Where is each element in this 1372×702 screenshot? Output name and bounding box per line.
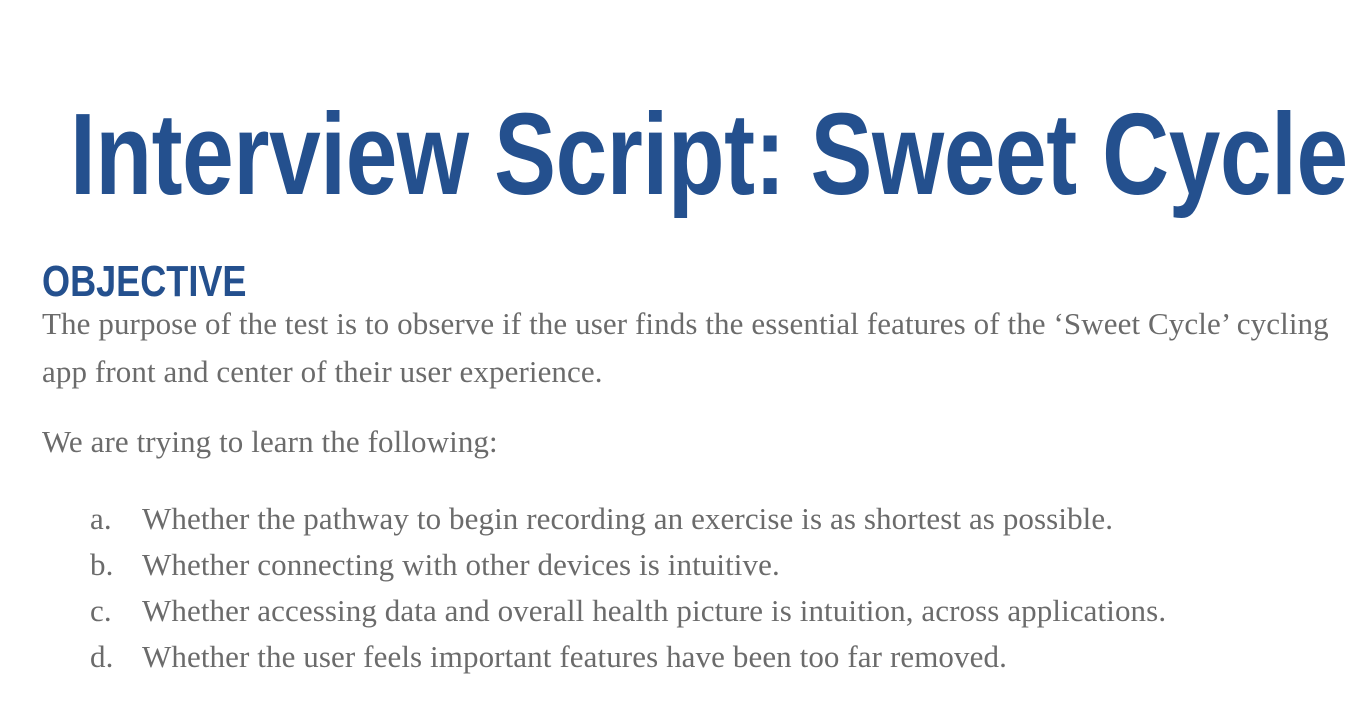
list-item: c. Whether accessing data and overall he… [42,588,1342,634]
document-page: Interview Script: Sweet Cycle OBJECTIVE … [0,0,1372,702]
list-item: a. Whether the pathway to begin recordin… [42,496,1342,542]
paragraph-learn-intro: We are trying to learn the following: [42,418,1332,466]
list-item-label: Whether accessing data and overall healt… [142,588,1342,634]
list-item-label: Whether connecting with other devices is… [142,542,1342,588]
page-title: Interview Script: Sweet Cycle [70,92,1078,216]
list-item-label: Whether the pathway to begin recording a… [142,496,1342,542]
section-heading-objective: OBJECTIVE [42,259,247,305]
objective-list: a. Whether the pathway to begin recordin… [42,496,1342,680]
list-item-marker: c. [42,588,142,634]
list-item-marker: a. [42,496,142,542]
objective-body: The purpose of the test is to observe if… [42,300,1332,466]
list-item: b. Whether connecting with other devices… [42,542,1342,588]
list-item-marker: b. [42,542,142,588]
list-item-marker: d. [42,634,142,680]
paragraph-purpose: The purpose of the test is to observe if… [42,300,1332,396]
list-item-label: Whether the user feels important feature… [142,634,1342,680]
list-item: d. Whether the user feels important feat… [42,634,1342,680]
